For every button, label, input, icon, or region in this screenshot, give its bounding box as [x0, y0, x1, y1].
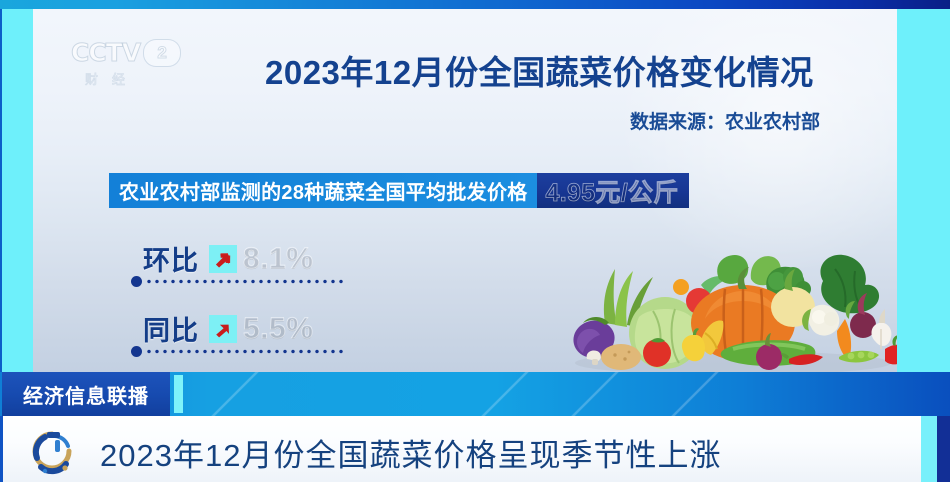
data-source-label: 数据来源：农业农村部 [630, 107, 820, 134]
price-banner-value-box: 4.95元/公斤 [537, 173, 689, 208]
stat-dotted-underline [131, 276, 345, 287]
stat-value-yoy: 5.5% [243, 312, 313, 346]
watermark-row: CCTV 2 [71, 38, 181, 67]
up-arrow-icon [209, 315, 237, 343]
tab-accent-bar [174, 375, 183, 413]
band-pattern-3 [560, 372, 630, 416]
band-pattern-1 [200, 372, 270, 416]
main-graphic-panel: CCTV 2 财经 2023年12月份全国蔬菜价格变化情况 数据来源：农业农村部… [33, 9, 897, 372]
channel-number-badge: 2 [143, 39, 181, 67]
left-cyan-band [2, 9, 33, 372]
broadcast-screen: CCTV 2 财经 2023年12月份全国蔬菜价格变化情况 数据来源：农业农村部… [0, 0, 950, 482]
cctv2-watermark: CCTV 2 财经 [71, 38, 181, 100]
headline-text: 2023年12月份全国蔬菜价格呈现季节性上涨 [100, 430, 721, 475]
stat-value-mom: 8.1% [243, 242, 313, 276]
stat-label-mom: 环比 [143, 239, 199, 278]
up-arrow-icon [209, 245, 237, 273]
price-value: 4.95元/公斤 [546, 173, 679, 209]
stat-row-content: 环比 8.1% [143, 239, 313, 287]
headline-left-edge [0, 416, 3, 482]
bullet-dot [131, 276, 142, 287]
dotted-line [145, 349, 345, 354]
program-name-label: 经济信息联播 [23, 380, 149, 409]
stat-row-content: 同比 5.5% [143, 309, 313, 357]
program-name-tab: 经济信息联播 [2, 372, 170, 416]
stat-row-yoy: 同比 5.5% [143, 309, 313, 357]
band-pattern-4 [660, 372, 730, 416]
price-banner: 农业农村部监测的28种蔬菜全国平均批发价格 4.95元/公斤 [109, 173, 689, 208]
vegetables-illustration [553, 245, 897, 372]
band-pattern-2 [470, 372, 540, 416]
bullet-dot [131, 346, 142, 357]
channel-name-label: 财经 [71, 69, 181, 88]
stat-dotted-underline [131, 346, 345, 357]
headline-accent-bar [921, 416, 937, 482]
stat-label-yoy: 同比 [143, 309, 199, 348]
headline-right-block [937, 416, 950, 482]
dotted-line [145, 279, 345, 284]
price-banner-description: 农业农村部监测的28种蔬菜全国平均批发价格 [109, 173, 537, 208]
cctv-logo-text: CCTV [71, 38, 140, 67]
cctv-finance-logo-icon [25, 424, 79, 478]
top-gradient-bar [0, 0, 950, 9]
right-cyan-band [897, 9, 950, 372]
page-title: 2023年12月份全国蔬菜价格变化情况 [265, 46, 814, 94]
lower-third: 经济信息联播 2023年12月份全国蔬菜价格呈现季节性上涨 [0, 372, 950, 482]
stat-row-mom: 环比 8.1% [143, 239, 313, 287]
